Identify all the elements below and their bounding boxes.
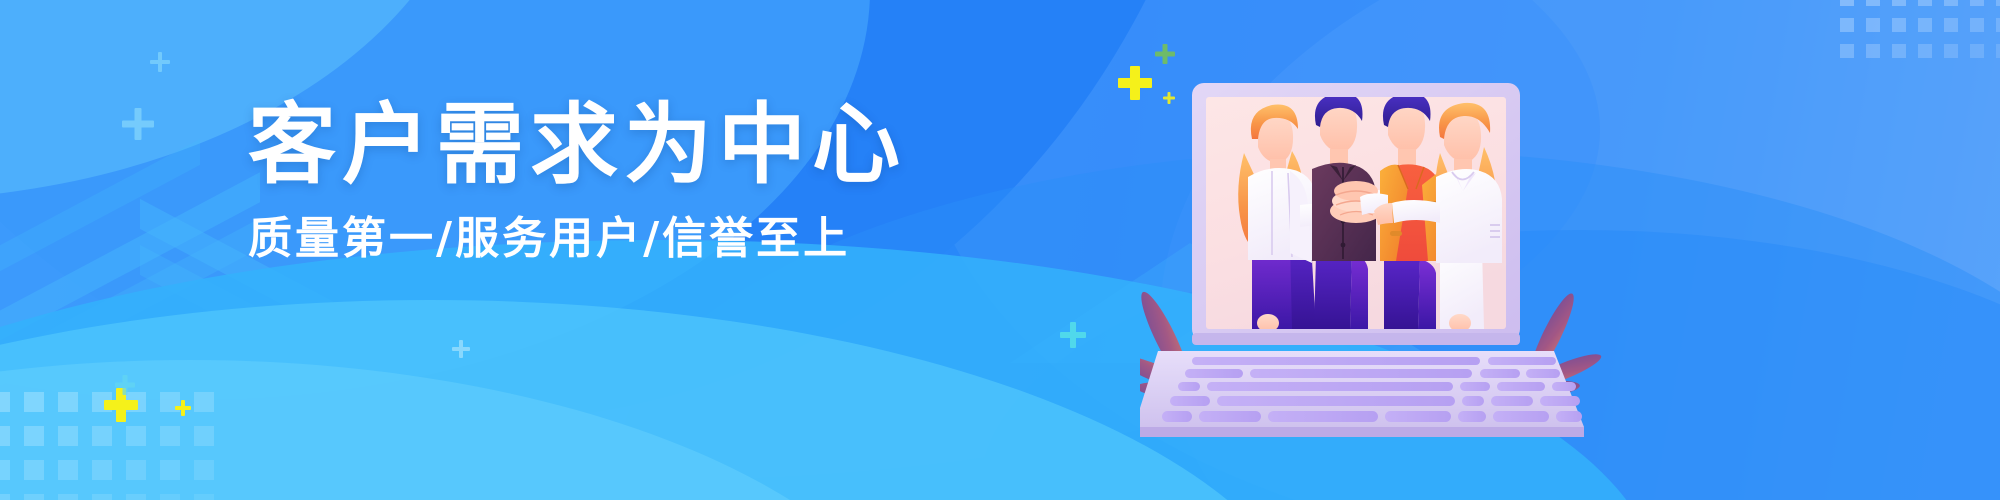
plus-icon-yellow-small-bl [175, 400, 191, 416]
grid-square [1970, 18, 1984, 32]
grid-square [0, 460, 10, 480]
grid-square [1944, 0, 1958, 6]
grid-square [1866, 0, 1880, 6]
grid-square [58, 460, 78, 480]
grid-square [58, 392, 78, 412]
laptop-illustration [1140, 55, 1620, 455]
grid-square [0, 494, 10, 500]
grid-square [1892, 0, 1906, 6]
grid-square [1944, 18, 1958, 32]
grid-square [92, 460, 112, 480]
grid-square [1970, 44, 1984, 58]
grid-square [1840, 0, 1854, 6]
plus-icon-soft-left [122, 108, 154, 140]
grid-square [194, 392, 214, 412]
grid-square [0, 392, 10, 412]
grid-square [24, 494, 44, 500]
grid-square [1996, 44, 2000, 58]
laptop-base [1140, 351, 1584, 437]
laptop-hinge [1192, 333, 1520, 345]
grid-square [1866, 18, 1880, 32]
grid-square [1996, 18, 2000, 32]
grid-square [1866, 44, 1880, 58]
grid-square [126, 494, 146, 500]
grid-square [1840, 18, 1854, 32]
grid-square [194, 426, 214, 446]
plus-icon-soft-top-left [150, 52, 170, 72]
page-subtitle: 质量第一/服务用户/信誉至上 [248, 214, 906, 265]
grid-square [92, 494, 112, 500]
grid-square [126, 460, 146, 480]
square-grid-top-right [1840, 0, 2000, 58]
grid-square [1996, 0, 2000, 6]
grid-square [24, 460, 44, 480]
page-title: 客户需求为中心 [248, 100, 906, 190]
grid-square [194, 460, 214, 480]
grid-square [58, 494, 78, 500]
grid-square [1918, 44, 1932, 58]
grid-square [0, 426, 10, 446]
grid-square [194, 494, 214, 500]
banner-root: 客户需求为中心 质量第一/服务用户/信誉至上 [0, 0, 2000, 500]
grid-square [1840, 44, 1854, 58]
grid-square [160, 426, 180, 446]
grid-square [58, 426, 78, 446]
grid-square [126, 426, 146, 446]
plus-icon-soft-cyan-bl [115, 375, 135, 395]
grid-square [1892, 44, 1906, 58]
grid-square [1970, 0, 1984, 6]
grid-square [1892, 18, 1906, 32]
grid-square [24, 392, 44, 412]
grid-square [1918, 18, 1932, 32]
grid-square [1944, 44, 1958, 58]
plus-icon-soft-cyan [1060, 322, 1086, 348]
grid-square [160, 494, 180, 500]
grid-square [92, 426, 112, 446]
grid-square [1918, 0, 1932, 6]
grid-square [160, 460, 180, 480]
plus-icon-soft-mid [452, 340, 470, 358]
grid-square [24, 426, 44, 446]
text-block: 客户需求为中心 质量第一/服务用户/信誉至上 [248, 100, 906, 264]
